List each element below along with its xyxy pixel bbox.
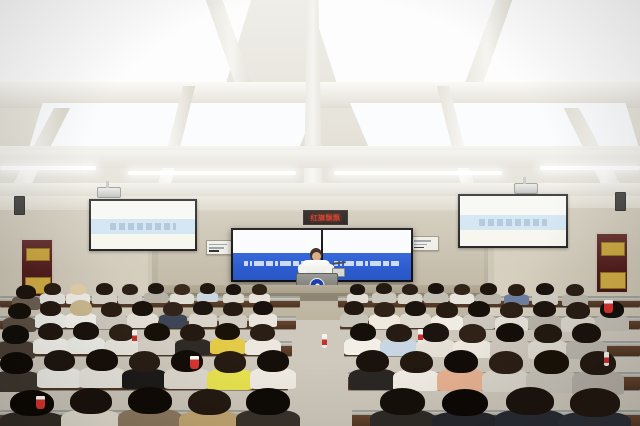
person-head — [536, 283, 554, 295]
person-head — [70, 388, 112, 414]
audience-person — [506, 387, 554, 426]
door-kick-panel — [600, 272, 626, 289]
person-head — [163, 302, 183, 316]
audience-person — [214, 351, 246, 386]
loudspeaker-icon — [14, 196, 25, 215]
person-head — [459, 324, 486, 343]
ceiling-beam — [0, 146, 640, 168]
ceiling — [0, 0, 640, 212]
audience-person — [374, 302, 395, 326]
ceiling-light-strip — [334, 171, 502, 175]
person-head — [122, 284, 138, 295]
led-sign-text: 红旗飘飘 — [311, 213, 341, 223]
audience-person — [422, 323, 449, 353]
screen-title-text — [110, 223, 177, 230]
audience-person — [566, 284, 584, 304]
screen-title-text — [479, 219, 547, 226]
audience-person — [454, 284, 470, 302]
audience-person — [252, 284, 267, 301]
person-head — [454, 284, 470, 295]
projection-screen-right — [458, 194, 568, 248]
person-head — [436, 302, 458, 318]
audience-person — [468, 301, 490, 326]
person-head — [188, 389, 231, 415]
person-head — [40, 301, 61, 316]
person-head — [132, 301, 153, 316]
audience-person — [257, 350, 289, 385]
drink-cup — [190, 356, 199, 369]
water-bottle — [132, 330, 137, 344]
person-head — [566, 284, 584, 296]
audience-person — [86, 349, 118, 384]
person-head — [174, 284, 190, 295]
person-head — [73, 322, 99, 340]
audience-person — [44, 283, 61, 302]
person-head — [356, 350, 389, 372]
person-head — [109, 324, 134, 341]
person-head — [144, 323, 170, 341]
door-sign — [26, 248, 51, 261]
audience-person — [536, 283, 554, 303]
audience-person — [402, 284, 418, 302]
person-head — [214, 351, 246, 373]
person-head — [350, 323, 376, 341]
audience-person — [180, 324, 205, 352]
person-head — [8, 303, 31, 319]
audience-person — [70, 388, 112, 426]
person-head — [402, 284, 418, 295]
person-head — [253, 301, 273, 315]
person-head — [44, 283, 61, 295]
audience-person — [253, 301, 273, 324]
audience-person — [44, 350, 75, 384]
audience-person — [400, 351, 433, 387]
person-head — [148, 283, 164, 294]
audience-person — [73, 322, 99, 351]
audience-person — [109, 324, 134, 352]
audience-person — [215, 323, 240, 351]
person-head — [215, 323, 240, 340]
audience-person — [570, 388, 620, 426]
person-head — [193, 301, 213, 315]
person-head — [226, 284, 241, 295]
wall-notice-right — [411, 236, 439, 251]
lecture-hall-photo: 红旗飘飘 — [0, 0, 640, 426]
person-head — [101, 302, 122, 317]
water-bottle — [604, 352, 609, 366]
person-head — [128, 387, 172, 414]
person-head — [489, 351, 523, 374]
person-head — [10, 390, 54, 416]
person-head — [480, 283, 497, 295]
loudspeaker-icon — [615, 192, 626, 211]
person-head — [405, 301, 426, 316]
person-head — [534, 350, 569, 374]
audience-person — [350, 284, 365, 301]
audience-person — [2, 325, 29, 355]
audience-person — [38, 323, 63, 351]
audience-person — [128, 387, 172, 426]
person-head — [380, 388, 425, 415]
person-head — [223, 302, 243, 316]
ceiling-light-strip — [0, 166, 96, 170]
person-head — [86, 349, 118, 371]
audience-person — [356, 350, 389, 386]
person-head — [344, 301, 364, 315]
person-head — [422, 323, 449, 342]
projector-icon — [97, 187, 121, 198]
person-head — [496, 323, 524, 342]
audience-person — [188, 389, 231, 426]
ceiling-light-strip — [540, 166, 640, 170]
audience-person — [380, 388, 425, 426]
audience-person — [148, 283, 164, 301]
audience-person — [496, 323, 524, 354]
audience-person — [534, 350, 569, 388]
audience-person — [480, 283, 497, 302]
audience-person — [250, 324, 275, 352]
person-head — [500, 302, 523, 318]
person-head — [44, 350, 75, 371]
person-head — [0, 352, 33, 374]
person-head — [506, 387, 554, 415]
audience-person — [226, 284, 241, 301]
person-head — [96, 283, 113, 295]
notice-line — [209, 250, 219, 252]
audience-person — [10, 390, 54, 426]
notice-line — [209, 247, 224, 249]
person-head — [374, 302, 395, 317]
person-head — [180, 324, 205, 341]
person-head — [16, 285, 36, 299]
audience-person — [428, 283, 444, 301]
audience-person — [350, 323, 376, 352]
screen-band-bottom — [91, 234, 195, 249]
screen-band-top — [460, 196, 566, 215]
audience-person — [376, 283, 392, 301]
audience-person — [132, 301, 153, 325]
person-head — [508, 284, 525, 296]
audience-person — [101, 302, 122, 326]
person-head — [38, 323, 63, 340]
ceiling-light-strip — [128, 171, 296, 175]
person-head — [246, 388, 290, 415]
audience-person — [442, 389, 488, 426]
person-head — [350, 284, 365, 295]
person-head — [376, 283, 392, 294]
person-head — [250, 324, 275, 341]
audience-person — [386, 324, 412, 353]
person-head — [442, 389, 488, 416]
person-head — [257, 350, 289, 372]
door-sign — [601, 242, 626, 256]
audience-person — [223, 302, 243, 325]
person-head — [534, 324, 562, 343]
water-bottle — [322, 334, 327, 348]
person-head — [580, 351, 616, 375]
person-head — [533, 301, 556, 317]
audience-person — [344, 301, 364, 324]
person-head — [400, 351, 433, 373]
person-head — [444, 350, 478, 373]
screen-band-bottom — [460, 230, 566, 246]
screen-band-top — [91, 201, 195, 219]
audience-person — [200, 283, 215, 300]
audience-person — [96, 283, 113, 302]
person-head — [129, 351, 160, 372]
person-head — [70, 300, 92, 316]
person-head — [468, 301, 490, 317]
person-head — [386, 324, 412, 342]
person-head — [566, 302, 590, 319]
notice-line — [414, 244, 427, 246]
person-head — [570, 388, 620, 417]
microphone-icon — [332, 261, 346, 265]
led-marquee-sign: 红旗飘飘 — [303, 210, 348, 225]
audience-person — [533, 301, 556, 327]
drink-cup — [36, 396, 45, 409]
person-head — [428, 283, 444, 294]
audience-person — [144, 323, 170, 352]
audience-person — [580, 351, 616, 390]
audience-person — [122, 284, 138, 302]
person-head — [200, 283, 215, 294]
projection-screen-left — [89, 199, 197, 251]
drink-cup — [604, 300, 613, 313]
projector-icon — [514, 183, 538, 194]
person-head — [2, 325, 29, 344]
audience-person — [405, 301, 426, 325]
water-bottle — [418, 329, 423, 343]
audience-person — [174, 284, 190, 302]
audience-person — [193, 301, 213, 324]
notice-line — [209, 244, 227, 246]
audience-person — [489, 351, 523, 388]
exit-door-right[interactable] — [595, 232, 629, 294]
audience-person — [163, 302, 183, 325]
audience-person — [246, 388, 290, 426]
audience-person — [444, 350, 478, 387]
audience-person — [129, 351, 160, 385]
person-head — [252, 284, 267, 295]
wall-notice-left — [206, 240, 234, 255]
person-head — [572, 323, 601, 343]
person-head — [70, 284, 86, 295]
audience-person — [0, 352, 33, 388]
notice-line — [414, 240, 431, 242]
audience-person — [40, 301, 61, 325]
notice-line — [414, 247, 424, 249]
audience-person — [508, 284, 525, 303]
